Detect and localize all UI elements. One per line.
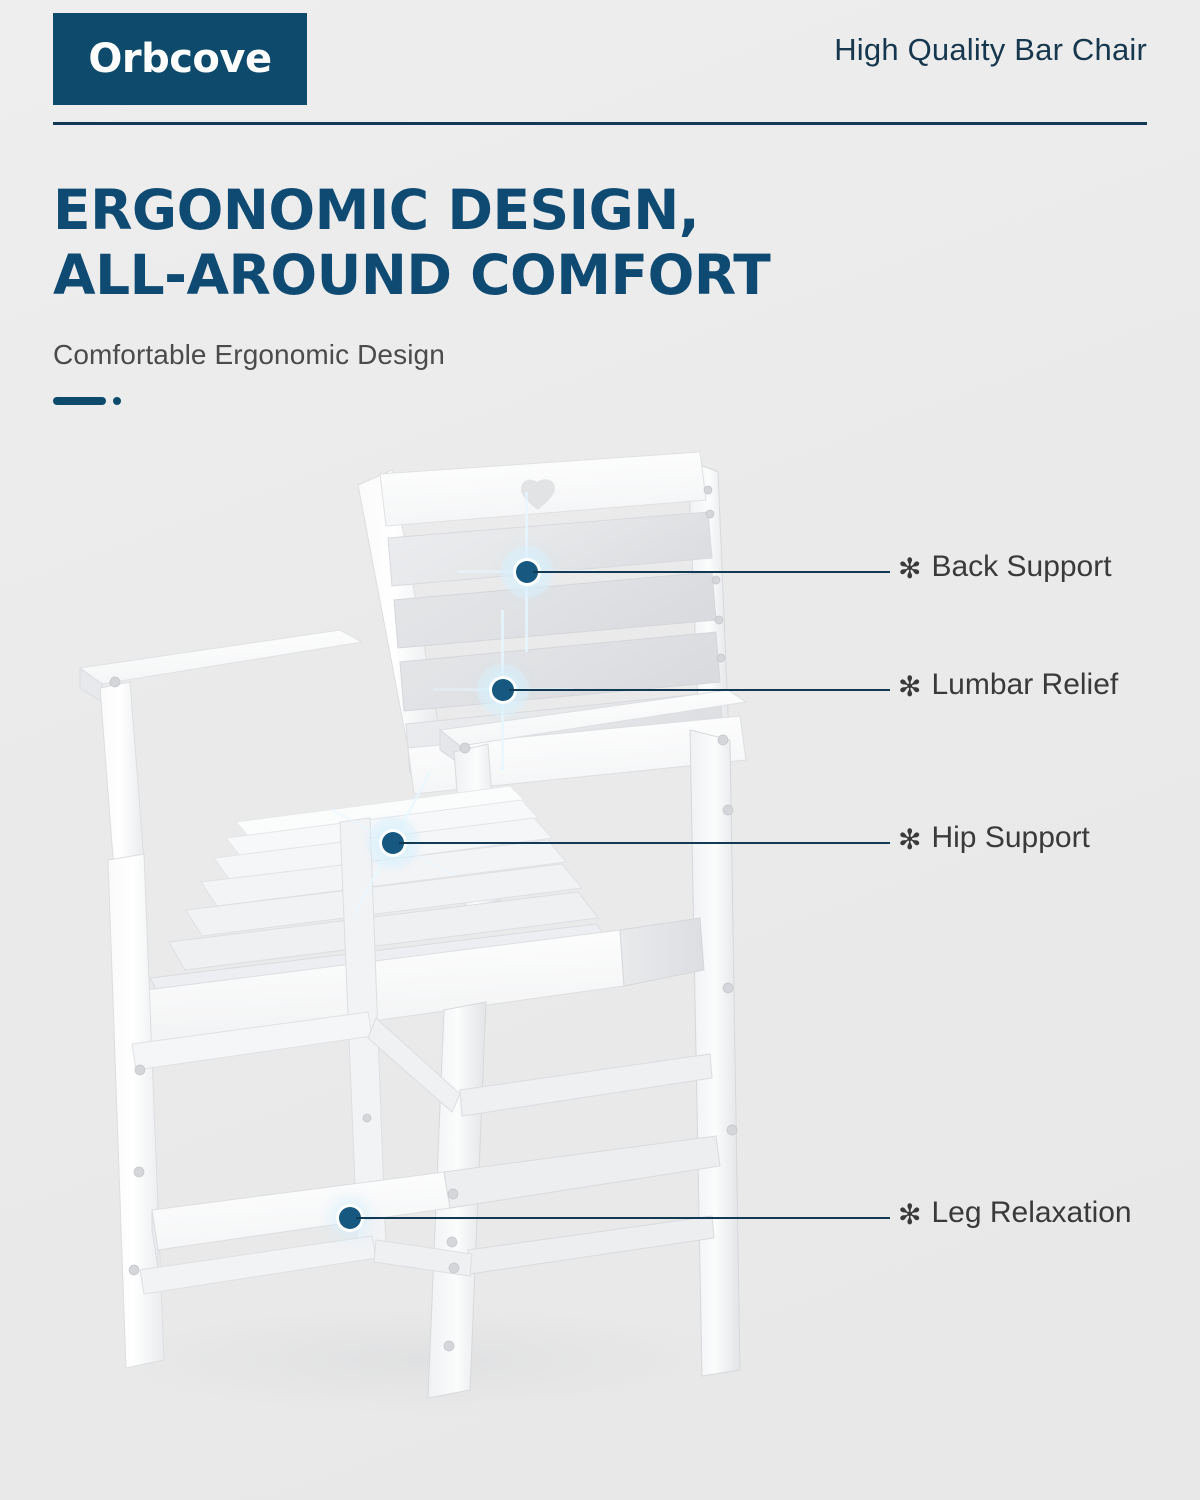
callout-label-lumbar-relief: ✻ Lumbar Relief xyxy=(898,668,1118,702)
footrest-rail-side xyxy=(444,1136,720,1208)
leader-line-lumbar-relief xyxy=(509,689,890,691)
leader-line-hip-support xyxy=(399,842,890,844)
infographic-page: Orbcove High Quality Bar Chair ERGONOMIC… xyxy=(0,0,1200,1500)
chair-seat xyxy=(146,786,704,1052)
headline-line-2: ALL-AROUND COMFORT xyxy=(53,243,953,308)
leader-line-back-support xyxy=(533,571,890,573)
leader-line-leg-relaxation xyxy=(356,1217,890,1219)
callout-text-leg-relaxation: Leg Relaxation xyxy=(931,1196,1131,1230)
title-block: ERGONOMIC DESIGN, ALL-AROUND COMFORT Com… xyxy=(53,178,953,405)
page-title: ERGONOMIC DESIGN, ALL-AROUND COMFORT xyxy=(53,178,953,309)
asterisk-icon: ✻ xyxy=(898,826,921,854)
page-header: Orbcove High Quality Bar Chair xyxy=(0,0,1200,130)
page-subtitle: Comfortable Ergonomic Design xyxy=(53,339,953,371)
asterisk-icon: ✻ xyxy=(898,673,921,701)
header-divider-rule xyxy=(53,122,1147,125)
accent-divider xyxy=(53,397,953,405)
brand-logo-text: Orbcove xyxy=(88,36,271,82)
divider-dot xyxy=(113,397,121,405)
chair-backrest xyxy=(358,452,746,794)
callout-text-lumbar-relief: Lumbar Relief xyxy=(931,668,1118,702)
asterisk-icon: ✻ xyxy=(898,555,921,583)
asterisk-icon: ✻ xyxy=(898,1201,921,1229)
product-image-bar-chair xyxy=(40,430,780,1440)
floor-shadow xyxy=(120,1308,720,1412)
callout-text-hip-support: Hip Support xyxy=(931,821,1089,855)
divider-bar xyxy=(53,397,106,405)
brand-logo: Orbcove xyxy=(53,13,307,105)
callout-label-hip-support: ✻ Hip Support xyxy=(898,821,1090,855)
callout-text-back-support: Back Support xyxy=(931,550,1111,584)
callout-label-leg-relaxation: ✻ Leg Relaxation xyxy=(898,1196,1132,1230)
chair-footrest xyxy=(132,1012,720,1294)
callout-label-back-support: ✻ Back Support xyxy=(898,550,1112,584)
headline-line-1: ERGONOMIC DESIGN, xyxy=(53,178,699,242)
product-stage: ✻ Back Support ✻ Lumbar Relief xyxy=(0,430,1200,1500)
header-title: High Quality Bar Chair xyxy=(834,32,1147,68)
chair-leg-rear-right xyxy=(690,730,740,1376)
footrest-rail-front xyxy=(152,1172,450,1250)
